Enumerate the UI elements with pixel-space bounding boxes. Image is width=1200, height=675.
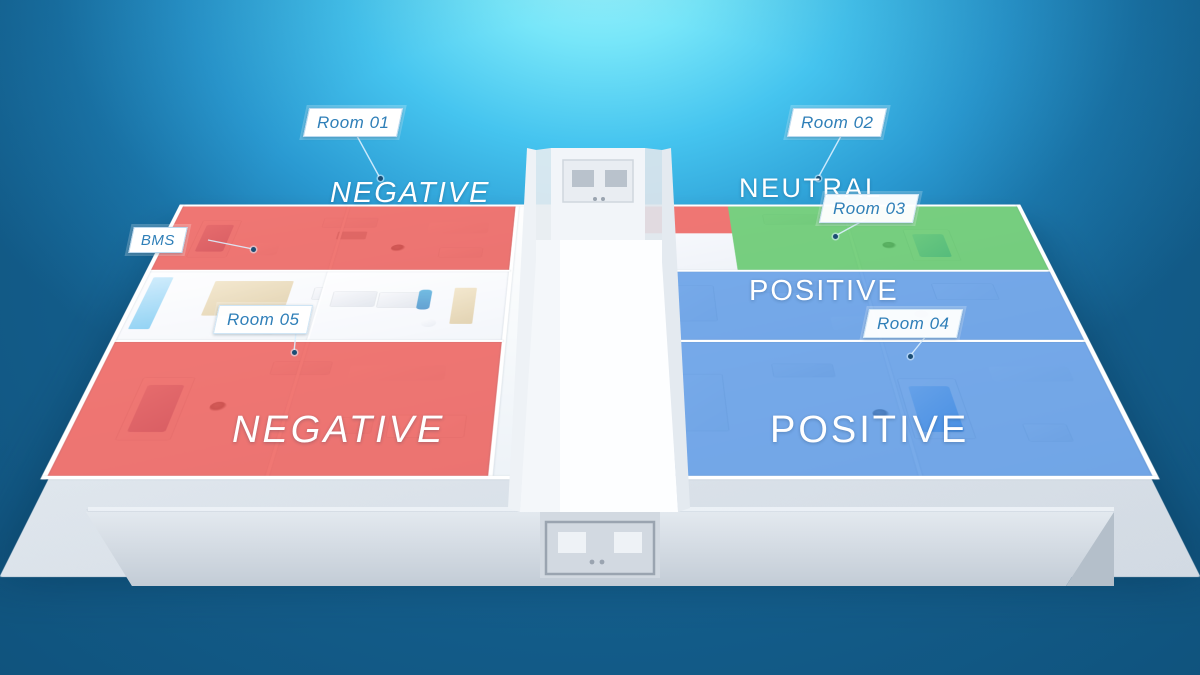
zone-reception xyxy=(309,270,510,340)
callout-room01[interactable]: Room 01 xyxy=(303,108,404,137)
floor-plate xyxy=(12,206,1188,543)
leader-dot-room05 xyxy=(292,350,297,355)
sofa-prop xyxy=(347,365,446,380)
callout-room04-label: Room 04 xyxy=(877,315,949,332)
building-3d xyxy=(0,0,1200,675)
zone-negative-top xyxy=(150,206,517,271)
callout-bms-label: BMS xyxy=(141,233,175,248)
leader-dot-bms xyxy=(251,247,256,252)
zone-tint-negative xyxy=(150,206,517,271)
zone-label-negative-bottom: NEGATIVE xyxy=(232,411,445,449)
divider-wall xyxy=(630,269,1051,271)
callout-room03-label: Room 03 xyxy=(833,200,905,217)
callout-room05-label: Room 05 xyxy=(227,311,299,328)
zone-label-negative-top: NEGATIVE xyxy=(330,179,491,208)
callout-bms[interactable]: BMS xyxy=(128,227,188,253)
zone-tint-white xyxy=(309,270,510,340)
callout-room05[interactable]: Room 05 xyxy=(213,305,314,334)
divider-wall xyxy=(149,269,510,271)
callout-room02-label: Room 02 xyxy=(801,114,873,131)
callout-room02[interactable]: Room 02 xyxy=(787,108,888,137)
callout-room03[interactable]: Room 03 xyxy=(819,194,920,223)
zone-label-positive-bottom: POSITIVE xyxy=(770,411,969,449)
callout-room01-label: Room 01 xyxy=(317,114,389,131)
leader-dot-room03 xyxy=(833,234,838,239)
zone-tint-negative xyxy=(628,206,732,233)
callout-room04[interactable]: Room 04 xyxy=(863,309,964,338)
zone-label-positive-middle: POSITIVE xyxy=(749,277,899,306)
perimeter-wall-right xyxy=(1016,204,1160,479)
leader-dot-room04 xyxy=(908,354,913,359)
floorplan-scene: NEGATIVE NEUTRAL POSITIVE NEGATIVE POSIT… xyxy=(0,0,1200,675)
